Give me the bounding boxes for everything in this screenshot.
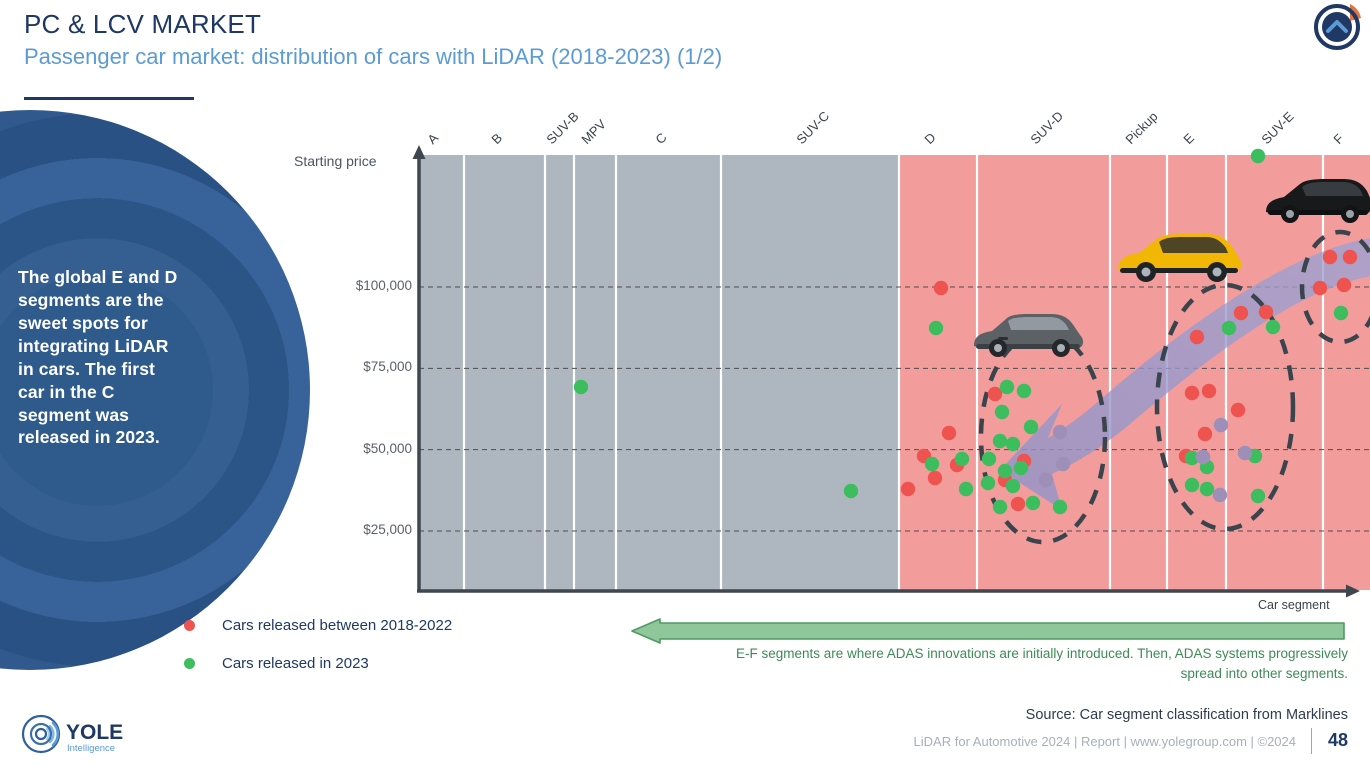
data-point: [1026, 496, 1040, 510]
source-note: Source: Car segment classification from …: [1026, 707, 1348, 723]
y-axis-title: Starting price: [294, 153, 376, 169]
data-point: [925, 457, 939, 471]
yole-logo-subtext: Intelligence: [67, 743, 115, 754]
data-point: [1006, 437, 1020, 451]
footer-credit: LiDAR for Automotive 2024 | Report | www…: [914, 734, 1296, 749]
page-number: 48: [1328, 730, 1348, 751]
data-point: [959, 482, 973, 496]
y-tick-label: $75,000: [300, 359, 412, 374]
data-point: [574, 380, 588, 394]
data-point: [1251, 489, 1265, 503]
data-point: [1039, 473, 1053, 487]
band-low-adoption: [419, 155, 899, 590]
data-point: [1231, 403, 1245, 417]
data-point: [1337, 278, 1351, 292]
data-point: [1251, 149, 1265, 163]
data-point: [1196, 450, 1210, 464]
data-point: [1190, 330, 1204, 344]
data-point: [1313, 281, 1327, 295]
data-point: [1238, 446, 1252, 460]
red-dot-icon: [184, 620, 195, 631]
pickup-car-photo: [1113, 224, 1245, 286]
data-point: [1259, 305, 1273, 319]
data-point: [1056, 457, 1070, 471]
data-point: [1202, 384, 1216, 398]
data-point: [1024, 420, 1038, 434]
adas-annotation-caption: E-F segments are where ADAS innovations …: [700, 644, 1348, 683]
green-dot-icon: [184, 658, 195, 669]
data-point: [901, 482, 915, 496]
data-point: [1017, 384, 1031, 398]
data-point: [1185, 478, 1199, 492]
data-point: [988, 387, 1002, 401]
data-point: [993, 434, 1007, 448]
adas-direction-arrow: [630, 618, 1345, 644]
data-point: [993, 500, 1007, 514]
data-point: [955, 452, 969, 466]
y-tick-label: $100,000: [300, 278, 412, 293]
data-point: [1343, 250, 1357, 264]
data-point: [844, 484, 858, 498]
data-point: [934, 281, 948, 295]
data-point: [1266, 320, 1280, 334]
data-point: [928, 471, 942, 485]
legend-item-1[interactable]: Cars released between 2018-2022: [184, 606, 452, 644]
suv-d-car-photo: [968, 302, 1086, 360]
data-point: [1006, 479, 1020, 493]
chart-legend: Cars released between 2018-2022Cars rele…: [184, 606, 452, 682]
footer-divider: [1311, 728, 1312, 754]
yole-logo-text: YOLE: [66, 721, 123, 744]
data-point: [982, 452, 996, 466]
data-point: [1185, 386, 1199, 400]
data-point: [1213, 488, 1227, 502]
legend-label: Cars released between 2018-2022: [222, 617, 452, 634]
data-point: [1053, 500, 1067, 514]
data-point: [1014, 461, 1028, 475]
x-axis-title: Car segment: [1258, 598, 1330, 612]
y-tick-label: $25,000: [300, 522, 412, 537]
y-tick-label: $50,000: [300, 441, 412, 456]
data-point: [1200, 482, 1214, 496]
data-point: [942, 426, 956, 440]
legend-label: Cars released in 2023: [222, 655, 369, 672]
data-point: [1234, 306, 1248, 320]
data-point: [995, 405, 1009, 419]
data-point: [1222, 321, 1236, 335]
legend-item-2[interactable]: Cars released in 2023: [184, 644, 452, 682]
data-point: [929, 321, 943, 335]
yole-logo: YOLE Intelligence: [20, 712, 150, 756]
f-sedan-car-photo: [1262, 170, 1370, 226]
data-point: [1323, 250, 1337, 264]
plot-background-bands: [419, 155, 1370, 590]
data-point: [1053, 425, 1067, 439]
data-point: [1000, 380, 1014, 394]
data-point: [981, 476, 995, 490]
data-point: [1198, 427, 1212, 441]
data-point: [1214, 418, 1228, 432]
data-point: [1334, 306, 1348, 320]
data-point: [998, 464, 1012, 478]
data-point: [1011, 497, 1025, 511]
